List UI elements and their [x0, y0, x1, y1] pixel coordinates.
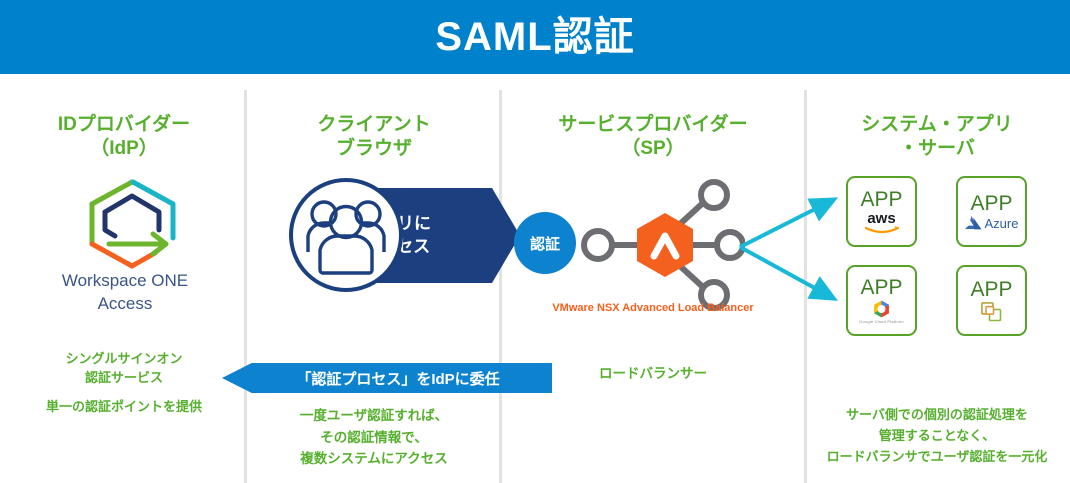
column-divider-2	[499, 90, 502, 483]
client-note: 一度ユーザ認証すれば、 その認証情報で、 複数システムにアクセス	[255, 405, 493, 470]
page-title: SAML認証	[435, 17, 634, 57]
idp-note-single-point: 単一の認証ポイントを提供	[10, 398, 238, 417]
idp-note-sso: シングルサインオン 認証サービス	[10, 350, 238, 388]
auth-badge-text: 認証	[530, 233, 560, 254]
workspace-one-access-logo	[85, 178, 180, 270]
column-divider-1	[244, 90, 247, 483]
vmware-apps-icon	[981, 302, 1002, 322]
column-header-sp-line2: （SP）	[508, 137, 798, 161]
column-header-idp-line2: （IdP）	[10, 137, 238, 161]
app-box-aws-title: APP	[860, 189, 902, 210]
column-header-systems-line1: システム・アプリ	[812, 113, 1062, 137]
column-header-sp: サービスプロバイダー （SP）	[508, 113, 798, 162]
client-note-line2: その認証情報で、	[255, 427, 493, 449]
idp-note-sso-line1: シングルサインオン	[10, 350, 238, 369]
column-header-sp-line1: サービスプロバイダー	[508, 113, 798, 137]
azure-mark-icon	[965, 216, 982, 230]
workspace-one-line1: Workspace ONE	[20, 270, 230, 293]
azure-logo-text: Azure	[985, 216, 1019, 231]
app-box-azure-title: APP	[970, 193, 1012, 214]
column-header-idp-line1: IDプロバイダー	[10, 113, 238, 137]
column-header-client-line2: ブラウザ	[255, 137, 493, 161]
sp-role-label: ロードバランサー	[508, 362, 798, 382]
delegation-banner-text: 「認証プロセス」をIdPに委任	[274, 368, 499, 389]
workspace-one-product-name: Workspace ONE Access	[20, 270, 230, 316]
apps-note-line1: サーバ側での個別の認証処理を	[812, 405, 1062, 426]
delegation-banner: 「認証プロセス」をIdPに委任	[222, 363, 552, 393]
client-note-line3: 複数システムにアクセス	[255, 448, 493, 470]
apps-note-line3: ロードバランサでユーザ認証を一元化	[812, 447, 1062, 468]
nsx-load-balancer-icon	[580, 178, 745, 313]
page-header: SAML認証	[0, 0, 1070, 74]
aws-logo-text: aws	[867, 212, 895, 226]
app-box-vmware-title: APP	[970, 279, 1012, 300]
auth-badge: 認証	[514, 212, 576, 274]
column-header-client-line1: クライアント	[255, 113, 493, 137]
column-header-client: クライアント ブラウザ	[255, 113, 493, 162]
distribution-arrows-icon	[735, 185, 850, 310]
column-header-systems: システム・アプリ ・サーバ	[812, 113, 1062, 162]
google-cloud-logo-text: Google Cloud Platform	[859, 319, 904, 324]
aws-logo: aws	[865, 212, 899, 234]
app-box-azure[interactable]: APP Azure	[956, 176, 1027, 247]
client-note-line1: 一度ユーザ認証すれば、	[255, 405, 493, 427]
azure-logo: Azure	[965, 216, 1019, 231]
app-box-google-cloud-title: APP	[860, 277, 902, 298]
app-box-aws[interactable]: APP aws	[846, 176, 917, 247]
three-people-icon	[289, 178, 403, 292]
aws-smile-icon	[865, 226, 899, 234]
column-header-systems-line2: ・サーバ	[812, 137, 1062, 161]
column-header-idp: IDプロバイダー （IdP）	[10, 113, 238, 162]
workspace-one-line2: Access	[20, 293, 230, 316]
app-box-google-cloud[interactable]: APP Google Cloud Platform	[846, 265, 917, 336]
apps-note-line2: 管理することなく、	[812, 426, 1062, 447]
idp-note-single-point-text: 単一の認証ポイントを提供	[10, 398, 238, 417]
app-box-vmware[interactable]: APP	[956, 265, 1027, 336]
google-cloud-logo	[872, 300, 891, 318]
apps-note: サーバ側での個別の認証処理を 管理することなく、 ロードバランサでユーザ認証を一…	[812, 405, 1062, 467]
idp-note-sso-line2: 認証サービス	[10, 369, 238, 388]
